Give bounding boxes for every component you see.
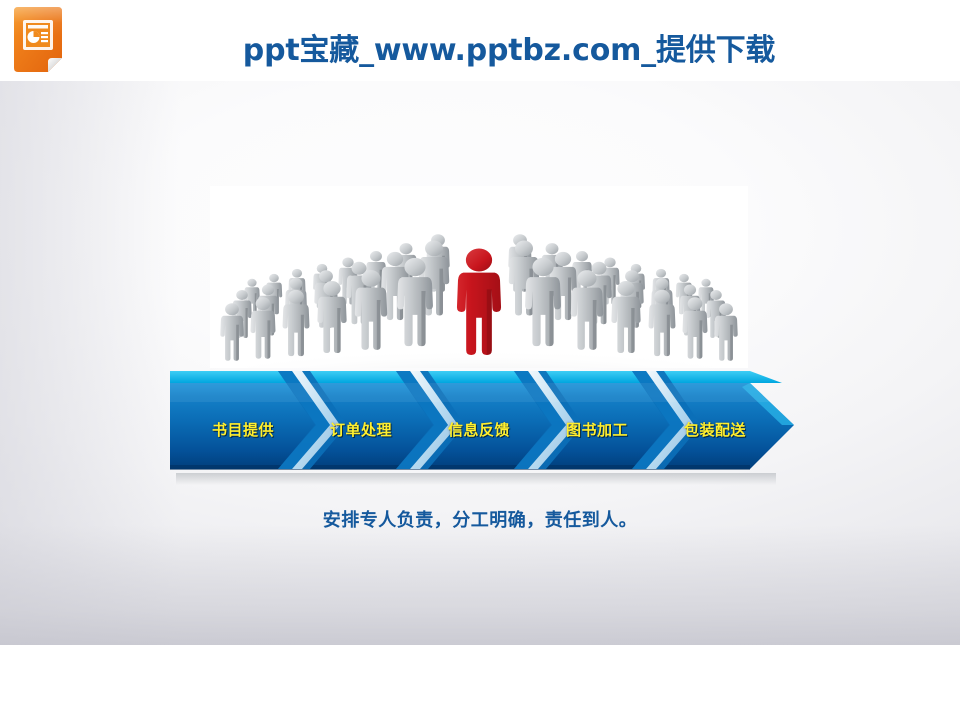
page-title: ppt宝藏_www.pptbz.com_提供下载 [0, 25, 960, 69]
slide-caption: 安排专人负责，分工明确，责任到人。 [0, 506, 960, 532]
process-step-label-5[interactable]: 包装配送 [656, 419, 774, 441]
slide-body: 书目提供 订单处理 信息反馈 图书加工 包装配送 安排专人负责，分工明确，责任到… [0, 81, 960, 645]
process-step-label-2[interactable]: 订单处理 [302, 419, 420, 441]
crowd-of-figures-image [210, 186, 748, 368]
process-arrow-banner: 书目提供 订单处理 信息反馈 图书加工 包装配送 [170, 369, 794, 489]
process-step-label-3[interactable]: 信息反馈 [420, 419, 538, 441]
process-step-label-4[interactable]: 图书加工 [538, 419, 656, 441]
process-step-label-1[interactable]: 书目提供 [184, 419, 302, 441]
slide-canvas: ppt宝藏_www.pptbz.com_提供下载 [0, 0, 960, 720]
below-slide-blank-area [0, 645, 960, 720]
header-bar: ppt宝藏_www.pptbz.com_提供下载 [0, 0, 960, 81]
